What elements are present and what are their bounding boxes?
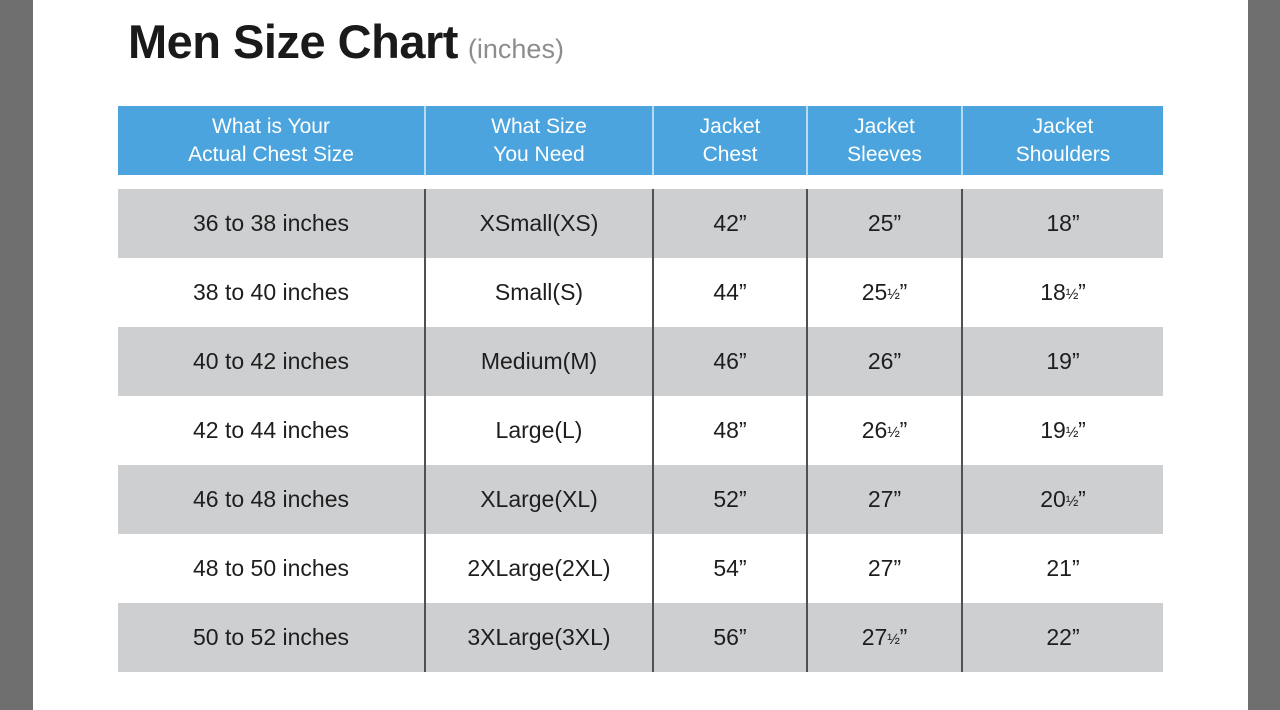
cell-size-you-need: Medium(M) (425, 327, 653, 396)
column-header-actual-chest-size: What is YourActual Chest Size (118, 106, 425, 175)
cell-jacket-shoulders: 18” (962, 189, 1163, 258)
cell-size-you-need: XSmall(XS) (425, 189, 653, 258)
column-header-jacket-chest: JacketChest (653, 106, 807, 175)
cell-jacket-sleeves: 26” (807, 327, 962, 396)
cell-size-you-need: XLarge(XL) (425, 465, 653, 534)
column-header-line: Jacket (810, 113, 959, 141)
header-row: What is YourActual Chest Size What SizeY… (118, 106, 1163, 175)
table-row: 42 to 44 inchesLarge(L)48”26½”19½” (118, 396, 1163, 465)
header-body-gap (118, 175, 1163, 189)
cell-jacket-chest: 48” (653, 396, 807, 465)
fraction-glyph: ½ (887, 631, 899, 648)
cell-actual-chest-size: 40 to 42 inches (118, 327, 425, 396)
column-header-size-you-need: What SizeYou Need (425, 106, 653, 175)
table-row: 38 to 40 inchesSmall(S)44”25½”18½” (118, 258, 1163, 327)
cell-jacket-chest: 54” (653, 534, 807, 603)
column-header-line: What is Your (120, 113, 422, 141)
cell-actual-chest-size: 50 to 52 inches (118, 603, 425, 672)
cell-jacket-shoulders: 18½” (962, 258, 1163, 327)
cell-actual-chest-size: 46 to 48 inches (118, 465, 425, 534)
cell-jacket-chest: 56” (653, 603, 807, 672)
column-header-line: Jacket (965, 113, 1161, 141)
size-chart-table: What is YourActual Chest Size What SizeY… (118, 106, 1163, 672)
column-header-line: What Size (428, 113, 650, 141)
page-title: Men Size Chart (inches) (128, 18, 564, 65)
cell-actual-chest-size: 42 to 44 inches (118, 396, 425, 465)
table-row: 50 to 52 inches3XLarge(3XL)56”27½”22” (118, 603, 1163, 672)
letterbox-band-left (0, 0, 33, 710)
cell-jacket-chest: 52” (653, 465, 807, 534)
column-header-jacket-shoulders: JacketShoulders (962, 106, 1163, 175)
page-title-main: Men Size Chart (128, 18, 458, 65)
cell-jacket-shoulders: 20½” (962, 465, 1163, 534)
cell-actual-chest-size: 36 to 38 inches (118, 189, 425, 258)
table-row: 36 to 38 inchesXSmall(XS)42”25”18” (118, 189, 1163, 258)
table-header: What is YourActual Chest Size What SizeY… (118, 106, 1163, 175)
column-header-line: Chest (656, 141, 804, 169)
table-row: 40 to 42 inchesMedium(M)46”26”19” (118, 327, 1163, 396)
cell-jacket-chest: 44” (653, 258, 807, 327)
column-header-jacket-sleeves: JacketSleeves (807, 106, 962, 175)
cell-jacket-sleeves: 27” (807, 465, 962, 534)
column-header-line: Shoulders (965, 141, 1161, 169)
cell-jacket-chest: 46” (653, 327, 807, 396)
cell-size-you-need: Large(L) (425, 396, 653, 465)
cell-jacket-sleeves: 25” (807, 189, 962, 258)
letterbox-band-right (1248, 0, 1280, 710)
fraction-glyph: ½ (1066, 286, 1078, 303)
cell-jacket-shoulders: 19” (962, 327, 1163, 396)
cell-actual-chest-size: 48 to 50 inches (118, 534, 425, 603)
fraction-glyph: ½ (1066, 493, 1078, 510)
cell-jacket-shoulders: 21” (962, 534, 1163, 603)
cell-jacket-chest: 42” (653, 189, 807, 258)
fraction-glyph: ½ (1066, 424, 1078, 441)
table-row: 46 to 48 inchesXLarge(XL)52”27”20½” (118, 465, 1163, 534)
cell-jacket-shoulders: 19½” (962, 396, 1163, 465)
fraction-glyph: ½ (887, 286, 899, 303)
column-header-line: Sleeves (810, 141, 959, 169)
cell-size-you-need: 3XLarge(3XL) (425, 603, 653, 672)
cell-jacket-sleeves: 25½” (807, 258, 962, 327)
page-title-unit: (inches) (468, 36, 564, 63)
cell-jacket-sleeves: 26½” (807, 396, 962, 465)
column-header-line: Jacket (656, 113, 804, 141)
column-header-line: You Need (428, 141, 650, 169)
cell-jacket-shoulders: 22” (962, 603, 1163, 672)
cell-size-you-need: 2XLarge(2XL) (425, 534, 653, 603)
cell-size-you-need: Small(S) (425, 258, 653, 327)
cell-jacket-sleeves: 27½” (807, 603, 962, 672)
table-row: 48 to 50 inches2XLarge(2XL)54”27”21” (118, 534, 1163, 603)
fraction-glyph: ½ (887, 424, 899, 441)
cell-actual-chest-size: 38 to 40 inches (118, 258, 425, 327)
chart-page: Men Size Chart (inches) What is YourActu… (33, 0, 1248, 710)
cell-jacket-sleeves: 27” (807, 534, 962, 603)
column-header-line: Actual Chest Size (120, 141, 422, 169)
table-body: 36 to 38 inchesXSmall(XS)42”25”18”38 to … (118, 175, 1163, 672)
